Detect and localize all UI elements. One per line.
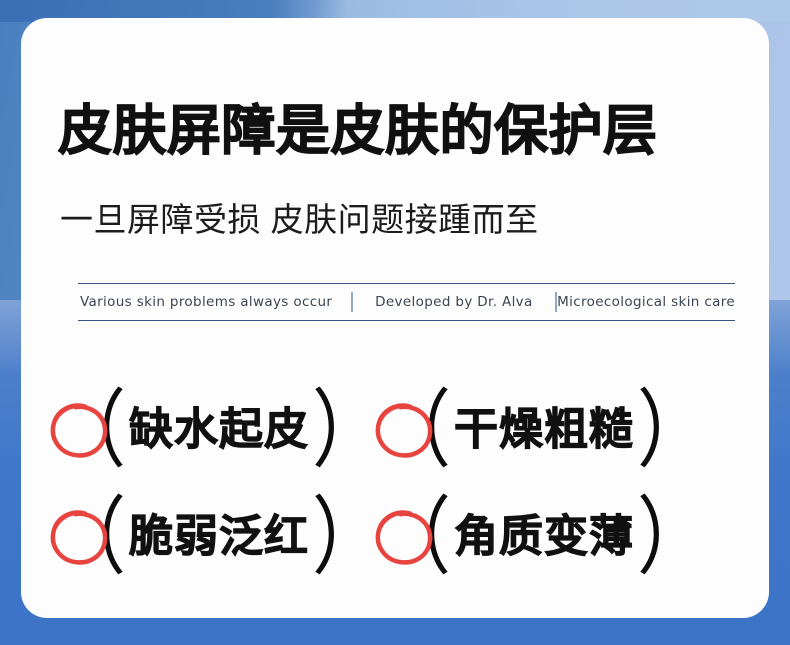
page-subtitle: 一旦屏障受损 皮肤问题接踵而至	[60, 200, 539, 240]
close-bracket: ）	[637, 494, 709, 579]
page-title: 皮肤屏障是皮肤的保护层	[58, 103, 658, 160]
close-bracket: ）	[637, 387, 709, 472]
english-tagline-strip: Various skin problems always occur Devel…	[78, 283, 735, 321]
problem-item-label: 干燥粗糙	[454, 408, 634, 452]
open-bracket: （	[54, 387, 126, 472]
content-card: 皮肤屏障是皮肤的保护层 一旦屏障受损 皮肤问题接踵而至 Various skin…	[21, 18, 769, 618]
problem-item-label: 角质变薄	[454, 515, 634, 559]
tagline-segment-1: Various skin problems always occur	[78, 294, 351, 310]
problem-item: （ 干燥粗糙 ）	[379, 376, 694, 483]
open-bracket: （	[379, 494, 451, 579]
open-bracket: （	[54, 494, 126, 579]
problem-item: （ 角质变薄 ）	[379, 483, 694, 590]
problem-item-row: （ 脆弱泛红 ） （	[54, 483, 694, 590]
problem-item-label: 脆弱泛红	[129, 515, 309, 559]
problem-item: （ 缺水起皮 ）	[54, 376, 379, 483]
close-bracket: ）	[312, 387, 384, 472]
close-bracket: ）	[312, 494, 384, 579]
open-bracket: （	[379, 387, 451, 472]
problem-item-grid: （ 缺水起皮 ） （	[54, 376, 694, 590]
problem-item-label: 缺水起皮	[129, 408, 309, 452]
tagline-segment-3: Microecological skin care	[557, 294, 735, 310]
tagline-segment-2: Developed by Dr. Alva	[353, 294, 556, 310]
problem-item-row: （ 缺水起皮 ） （	[54, 376, 694, 483]
promo-page: 皮肤屏障是皮肤的保护层 一旦屏障受损 皮肤问题接踵而至 Various skin…	[0, 0, 790, 645]
problem-item: （ 脆弱泛红 ）	[54, 483, 379, 590]
